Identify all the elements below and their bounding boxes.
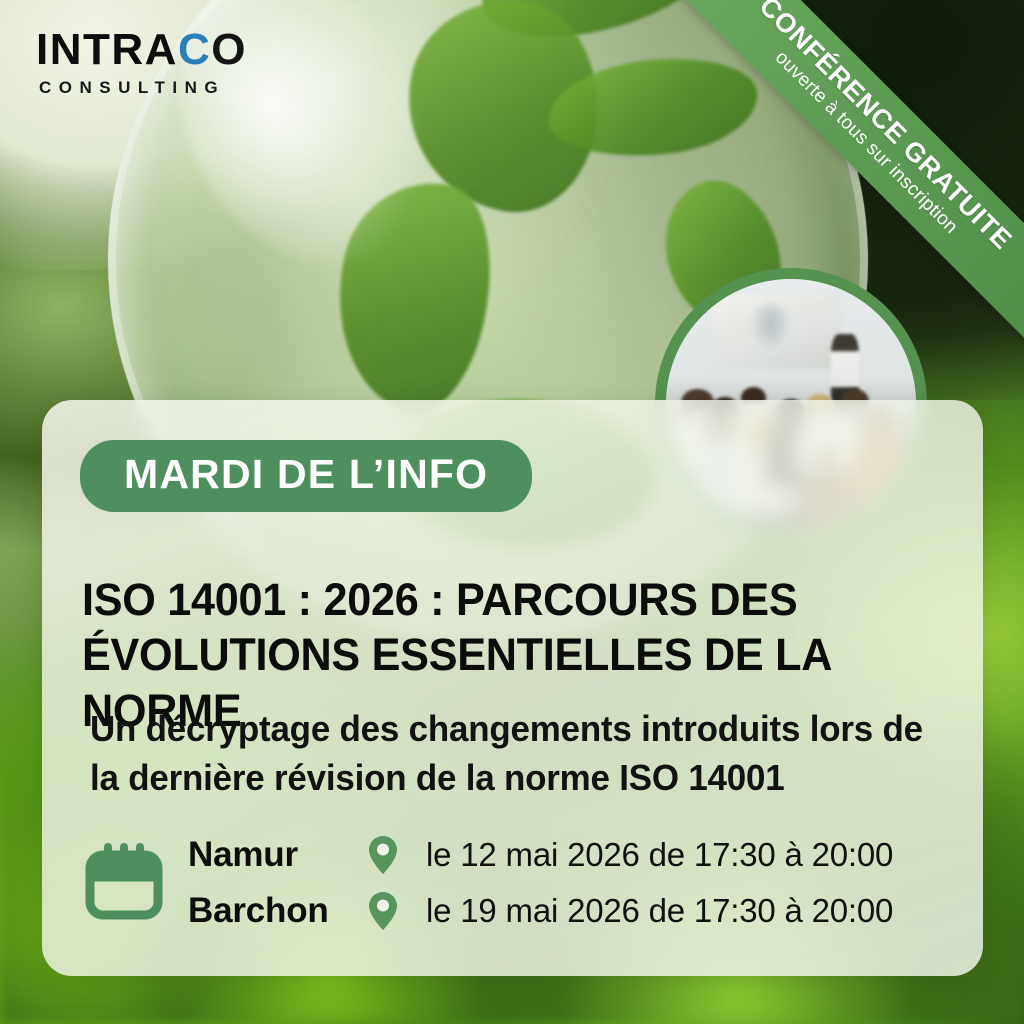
session-datetime: le 12 mai 2026 de 17:30 à 20:00 (426, 836, 893, 874)
event-series-badge: MARDI DE L’INFO (80, 440, 532, 512)
session-city: Barchon (188, 891, 366, 931)
logo-tagline: CONSULTING (39, 79, 247, 96)
session-datetime: le 19 mai 2026 de 17:30 à 20:00 (426, 892, 893, 930)
sessions-block: Namur le 12 mai 2026 de 17:30 à 20:00 Ba… (82, 832, 893, 934)
event-subtitle: Un décryptage des changements introduits… (90, 705, 944, 802)
logo-letter-o-icon: O (211, 28, 247, 72)
logo-letter-c-icon: C (178, 28, 211, 72)
map-pin-icon (366, 835, 400, 875)
logo-text-intra: INTRA (36, 28, 178, 72)
session-city: Namur (188, 835, 366, 875)
session-row: Namur le 12 mai 2026 de 17:30 à 20:00 (188, 832, 893, 878)
session-list: Namur le 12 mai 2026 de 17:30 à 20:00 Ba… (188, 832, 893, 934)
calendar-icon (82, 839, 166, 928)
map-pin-icon (366, 891, 400, 931)
poster-canvas: INTRA C O CONSULTING CONFÉRENCE GRATUITE… (0, 0, 1024, 1024)
session-row: Barchon le 19 mai 2026 de 17:30 à 20:00 (188, 888, 893, 934)
content-card: MARDI DE L’INFO ISO 14001 : 2026 : PARCO… (42, 400, 983, 976)
brand-logo: INTRA C O CONSULTING (36, 28, 247, 96)
screen-figure (751, 304, 791, 354)
logo-wordmark: INTRA C O (36, 28, 247, 72)
